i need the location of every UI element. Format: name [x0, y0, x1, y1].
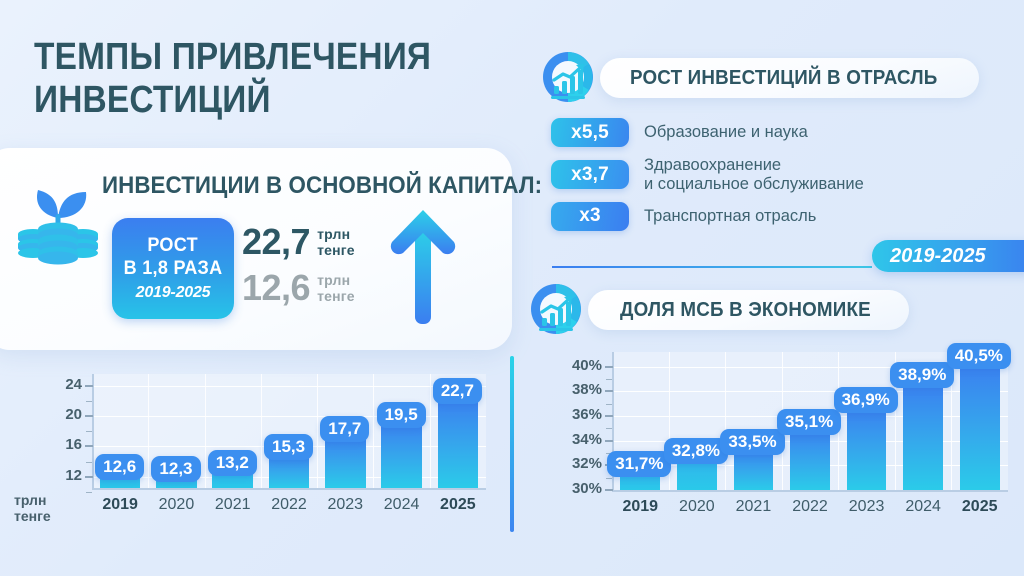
growth-multiplier-badge: РОСТ В 1,8 РАЗА 2019-2025	[112, 218, 234, 319]
up-arrow-icon	[388, 206, 458, 324]
section-divider	[552, 266, 872, 268]
y-axis-caption-line1: трлн	[14, 492, 46, 508]
y-tick	[605, 415, 613, 417]
x-axis-line	[612, 490, 1008, 492]
y-tick	[85, 415, 93, 417]
y-minor-tick	[606, 478, 612, 479]
sector-growth-list: x5,5 Образование и наука x3,7 Здравоохра…	[551, 118, 971, 240]
bar	[381, 420, 422, 488]
current-unit-line1: трлн	[317, 226, 350, 242]
bar-value-badge: 15,3	[264, 434, 313, 460]
sector-row: x3,7 Здравоохранение и социальное обслуж…	[551, 156, 971, 194]
bar	[325, 434, 366, 488]
sector-growth-header: РОСТ ИНВЕСТИЦИЙ В ОТРАСЛЬ	[600, 58, 979, 98]
y-tick-label: 36%	[534, 406, 602, 423]
x-tick-label: 2023	[317, 496, 373, 514]
y-minor-tick	[86, 431, 92, 432]
bar-value-badge: 33,5%	[720, 429, 784, 455]
gridline	[92, 386, 486, 387]
x-tick-label: 2024	[895, 498, 952, 516]
y-minor-tick	[86, 401, 92, 402]
sector-label: Здравоохранение и социальное обслуживани…	[644, 156, 864, 194]
capital-card-heading: ИНВЕСТИЦИИ В ОСНОВНОЙ КАПИТАЛ:	[102, 172, 474, 200]
current-unit-line2: тенге	[317, 242, 355, 258]
y-minor-tick	[86, 462, 92, 463]
msb-share-chart: 30%32%34%36%38%40%31,7%201932,8%202033,5…	[534, 330, 1014, 530]
x-tick-label: 2022	[782, 498, 839, 516]
x-tick-label: 2020	[148, 496, 204, 514]
period-badge-label: 2019-2025	[890, 245, 986, 268]
past-value-row: 12,6 трлн тенге	[242, 270, 355, 306]
sector-growth-header-label: РОСТ ИНВЕСТИЦИЙ В ОТРАСЛЬ	[630, 67, 937, 90]
bar-value-badge: 17,7	[320, 416, 369, 442]
y-tick-label: 32%	[534, 455, 602, 472]
bar	[903, 380, 943, 490]
vertical-gridline	[373, 374, 374, 488]
y-tick-label: 30%	[534, 480, 602, 497]
bar-value-badge: 38,9%	[890, 362, 954, 388]
bar	[790, 427, 830, 490]
x-tick-label: 2023	[838, 498, 895, 516]
y-tick-label: 38%	[534, 381, 602, 398]
x-tick-label: 2022	[261, 496, 317, 514]
growth-badge-line1: РОСТ	[148, 235, 199, 257]
vertical-gridline	[205, 374, 206, 488]
past-unit-line1: трлн	[317, 272, 350, 288]
sector-multiplier-badge: x5,5	[551, 118, 629, 147]
past-value-unit: трлн тенге	[317, 273, 355, 303]
growth-badge-line2: В 1,8 РАЗА	[124, 258, 223, 280]
sector-multiplier-badge: x3	[551, 202, 629, 231]
vertical-gridline	[261, 374, 262, 488]
bar-value-badge: 40,5%	[947, 343, 1011, 369]
sector-row: x3 Транспортная отрасль	[551, 202, 971, 231]
sector-multiplier-badge: x3,7	[551, 160, 629, 189]
x-tick-label: 2021	[725, 498, 782, 516]
gridline	[92, 416, 486, 417]
y-axis-caption-line2: тенге	[14, 508, 51, 524]
y-minor-tick	[606, 428, 612, 429]
y-minor-tick	[606, 404, 612, 405]
vertical-gridline	[725, 352, 726, 490]
vertical-gridline	[148, 374, 149, 488]
capital-investments-card: ИНВЕСТИЦИИ В ОСНОВНОЙ КАПИТАЛ: РОСТ В 1,…	[0, 148, 512, 350]
current-value-row: 22,7 трлн тенге	[242, 224, 355, 260]
growth-chart-circle-icon	[539, 48, 597, 106]
past-value-number: 12,6	[242, 270, 310, 306]
y-tick-label: 24	[14, 376, 82, 393]
y-tick	[85, 385, 93, 387]
bar-value-badge: 13,2	[208, 450, 257, 476]
msb-share-header: ДОЛЯ МСБ В ЭКОНОМИКЕ	[588, 290, 909, 330]
bar-value-badge: 32,8%	[664, 438, 728, 464]
x-tick-label: 2019	[92, 496, 148, 514]
y-tick-label: 40%	[534, 357, 602, 374]
x-tick-label: 2021	[205, 496, 261, 514]
y-minor-tick	[606, 379, 612, 380]
sector-row: x5,5 Образование и наука	[551, 118, 971, 147]
bar-value-badge: 22,7	[433, 378, 482, 404]
plant-coins-icon	[16, 174, 100, 266]
gridline	[612, 391, 1008, 392]
bar-value-badge: 36,9%	[834, 387, 898, 413]
bar-value-badge: 12,3	[151, 456, 200, 482]
x-tick-label: 2020	[669, 498, 726, 516]
y-tick	[605, 366, 613, 368]
y-tick	[605, 390, 613, 392]
y-axis-caption: трлнтенге	[14, 492, 86, 524]
x-tick-label: 2025	[951, 498, 1008, 516]
bar-value-badge: 19,5	[377, 402, 426, 428]
bar-value-badge: 31,7%	[607, 451, 671, 477]
bar	[438, 396, 479, 488]
x-tick-label: 2024	[373, 496, 429, 514]
sector-label: Транспортная отрасль	[644, 207, 816, 226]
current-value-unit: трлн тенге	[317, 227, 355, 257]
investments-chart: 1216202412,6201912,3202013,2202115,32022…	[12, 360, 492, 530]
y-tick-label: 20	[14, 406, 82, 423]
y-tick	[85, 445, 93, 447]
period-badge: 2019-2025	[872, 240, 1024, 272]
bar-value-badge: 35,1%	[777, 409, 841, 435]
bar-value-badge: 12,6	[95, 454, 144, 480]
sector-label: Образование и наука	[644, 123, 808, 142]
growth-badge-period: 2019-2025	[136, 284, 211, 302]
y-tick	[85, 476, 93, 478]
x-tick-label: 2019	[612, 498, 669, 516]
current-value-number: 22,7	[242, 224, 310, 260]
page-title: ТЕМПЫ ПРИВЛЕЧЕНИЯ ИНВЕСТИЦИЙ	[34, 36, 448, 121]
y-minor-tick	[86, 492, 92, 493]
bar	[960, 361, 1000, 490]
y-tick-label: 12	[14, 467, 82, 484]
y-axis-line	[92, 374, 94, 488]
msb-share-header-label: ДОЛЯ МСБ В ЭКОНОМИКЕ	[620, 299, 871, 322]
x-tick-label: 2025	[430, 496, 486, 514]
vertical-divider	[510, 356, 514, 532]
bar	[847, 405, 887, 490]
x-axis-line	[92, 488, 486, 490]
y-tick-label: 16	[14, 436, 82, 453]
y-tick	[605, 489, 613, 491]
past-unit-line2: тенге	[317, 288, 355, 304]
y-tick-label: 34%	[534, 431, 602, 448]
vertical-gridline	[430, 374, 431, 488]
vertical-gridline	[317, 374, 318, 488]
y-tick	[605, 440, 613, 442]
